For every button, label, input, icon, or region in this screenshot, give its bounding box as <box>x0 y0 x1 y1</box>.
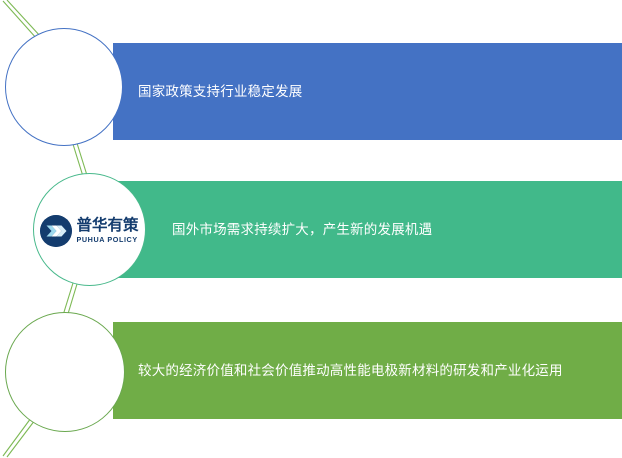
connector-top-b <box>7 0 41 37</box>
brand-logo: 普华有策 PUHUA POLICY <box>40 215 138 247</box>
puhua-chevron-mark-icon <box>40 215 72 247</box>
brand-logo-wordmark: 普华有策 PUHUA POLICY <box>76 218 138 243</box>
item-label-2: 国外市场需求持续扩大，产生新的发展机遇 <box>172 219 592 241</box>
brand-name-cn: 普华有策 <box>76 218 138 234</box>
item-label-3: 较大的经济价值和社会价值推动高性能电极新材料的研发和产业化运用 <box>138 360 593 382</box>
connector-bottom-b <box>7 420 35 457</box>
brand-name-en: PUHUA POLICY <box>76 236 137 243</box>
item-label-1: 国家政策支持行业稳定发展 <box>138 81 578 103</box>
connector-bottom-a <box>3 418 31 456</box>
node-circle-3 <box>5 312 125 432</box>
item-bar-1[interactable]: 国家政策支持行业稳定发展 <box>113 43 622 140</box>
infographic-canvas: 国家政策支持行业稳定发展 国外市场需求持续扩大，产生新的发展机遇 较大的经济价值… <box>0 0 622 458</box>
node-circle-1 <box>5 28 123 146</box>
connector-top-a <box>3 1 37 39</box>
item-bar-3[interactable]: 较大的经济价值和社会价值推动高性能电极新材料的研发和产业化运用 <box>113 322 622 419</box>
node-circle-2: 普华有策 PUHUA POLICY <box>33 173 146 286</box>
item-bar-2[interactable]: 国外市场需求持续扩大，产生新的发展机遇 <box>113 181 622 278</box>
